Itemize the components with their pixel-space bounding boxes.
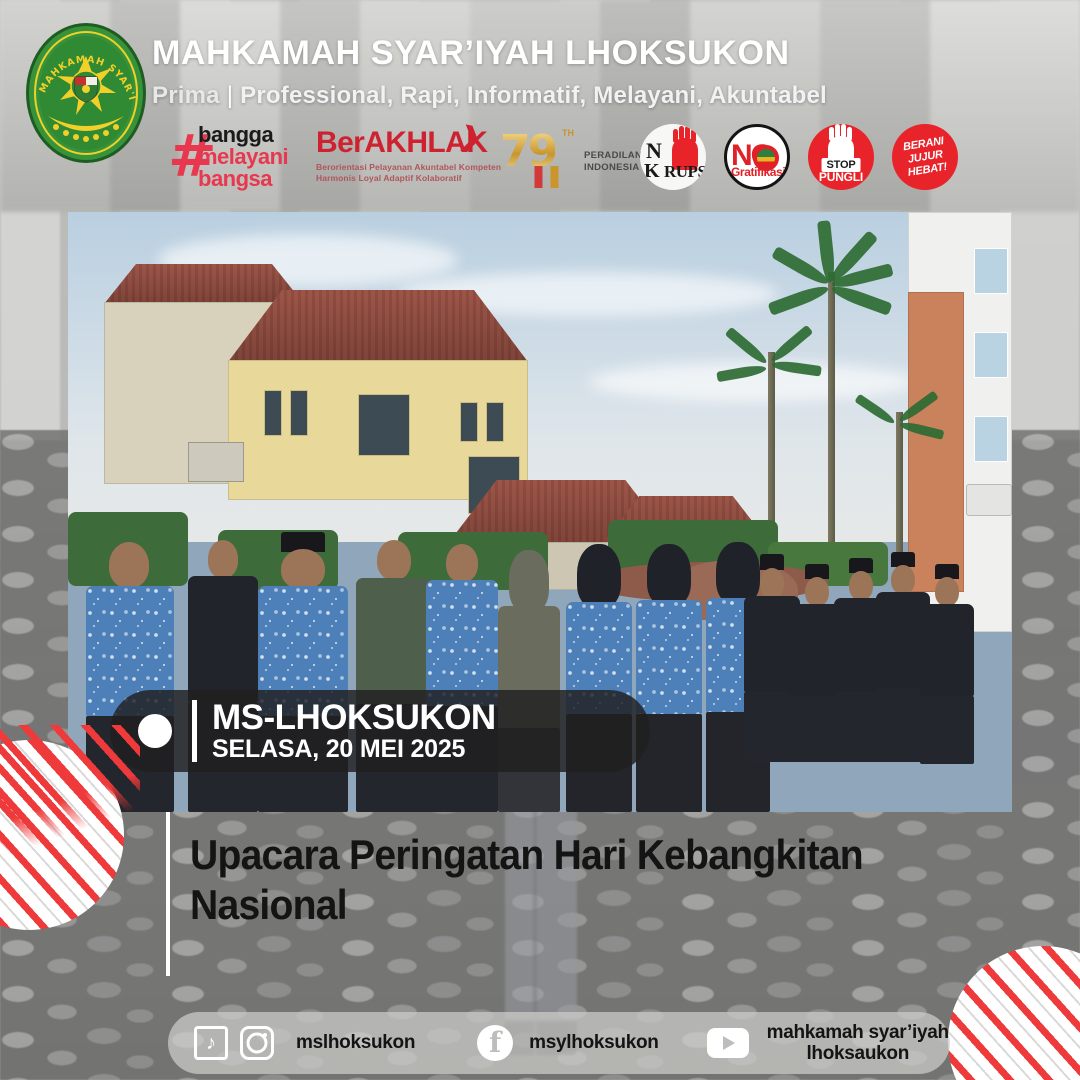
- tagline-values: Professional, Rapi, Informatif, Melayani…: [240, 82, 827, 109]
- pungli-label: PUNGLI: [808, 170, 874, 184]
- photo-ac-unit: [188, 442, 244, 482]
- berakhlak-title: BerAKHLAK: [316, 128, 476, 158]
- social-media-bar: ♪ mslhoksukon f msylhoksukon mahkamah sy…: [168, 1012, 950, 1074]
- bangga-line1: bangga: [198, 124, 273, 146]
- handle-youtube: mahkamah syar’iyah lhoksaukon: [767, 1022, 949, 1064]
- photo-building-right-column: [908, 292, 964, 592]
- institution-seal-icon: MAHKAMAH SYAR'IYAH LHOKSUKON: [22, 20, 150, 166]
- stop-pungli-badge: STOP PUNGLI: [808, 124, 874, 190]
- bangga-melayani-bangsa-logo: # bangga melayani bangsa: [168, 122, 296, 194]
- handle-youtube-line2: lhoksaukon: [767, 1043, 949, 1064]
- berani-text: BERANI JUJUR HEBAT!: [902, 135, 949, 180]
- bullet-dot-icon: [138, 714, 172, 748]
- tiktok-icon[interactable]: ♪: [194, 1026, 228, 1060]
- poster-canvas: MAHKAMAH SYAR'IYAH LHOKSUKON: [0, 0, 1080, 1080]
- handle-facebook: msylhoksukon: [529, 1032, 658, 1054]
- no-korupsi-badge: N K RUPSI: [640, 124, 706, 190]
- youtube-icon[interactable]: [707, 1028, 749, 1058]
- berakhlak-subtitle-1: Berorientasi Pelayanan Akuntabel Kompete…: [316, 162, 476, 173]
- social-account-tiktok-instagram[interactable]: ♪ mslhoksukon: [194, 1026, 415, 1060]
- handle-tiktok-instagram: mslhoksukon: [296, 1032, 415, 1054]
- office-code: MS-LHOKSUKON: [212, 700, 496, 735]
- facebook-icon[interactable]: f: [477, 1025, 513, 1061]
- photo-window: [974, 416, 1008, 462]
- hashtag-icon: #: [168, 128, 202, 186]
- photo-window: [290, 390, 308, 436]
- tagline-separator: |: [220, 82, 240, 109]
- hut-79-swoosh-icon: [510, 166, 568, 188]
- berani-jujur-hebat-badge: BERANI JUJUR HEBAT!: [892, 124, 958, 190]
- photo-person: [636, 544, 702, 812]
- no-gratifikasi-badge: NO Gratifikasi: [724, 124, 790, 190]
- photo-window: [358, 394, 410, 456]
- social-account-facebook[interactable]: f msylhoksukon: [477, 1025, 658, 1061]
- date-text-block: MS-LHOKSUKON SELASA, 20 MEI 2025: [212, 700, 496, 763]
- photo-window: [460, 402, 478, 442]
- organization-title: MAHKAMAH SYAR’IYAH LHOKSUKON: [152, 34, 790, 73]
- date-badge: MS-LHOKSUKON SELASA, 20 MEI 2025: [110, 690, 650, 772]
- photo-window: [264, 390, 282, 436]
- header-bar: MAHKAMAH SYAR'IYAH LHOKSUKON: [0, 0, 1080, 212]
- hut-79-suffix: TH: [562, 128, 574, 138]
- photo-window: [974, 248, 1008, 294]
- berakhlak-logo: BerAKHLAK ❯ Berorientasi Pelayanan Akunt…: [316, 128, 476, 192]
- gratifikasi-label: Gratifikasi: [731, 165, 785, 179]
- tagline-prima: Prima: [152, 82, 220, 109]
- social-account-youtube[interactable]: mahkamah syar’iyah lhoksaukon: [707, 1022, 949, 1064]
- bangga-line2: melayani: [198, 146, 288, 168]
- photo-person: [498, 550, 560, 812]
- decorative-stripes-left-red: [0, 725, 140, 855]
- korupsi-rest: RUPSI: [664, 162, 706, 182]
- photo-roof: [104, 264, 304, 304]
- photo-person: [920, 564, 974, 764]
- photo-ac-unit: [966, 484, 1012, 516]
- page-title: Upacara Peringatan Hari Kebangkitan Nasi…: [190, 830, 897, 930]
- event-date: SELASA, 20 MEI 2025: [212, 735, 496, 763]
- campaign-badge-row: # bangga melayani bangsa BerAKHLAK ❯ Ber…: [168, 124, 1048, 194]
- date-divider: [192, 700, 197, 762]
- tagline: Prima|Professional, Rapi, Informatif, Me…: [152, 82, 827, 110]
- photo-palm-trunk: [828, 272, 835, 572]
- photo-window: [486, 402, 504, 442]
- handle-youtube-line1: mahkamah syar’iyah: [767, 1022, 949, 1043]
- photo-window: [974, 332, 1008, 378]
- instagram-icon[interactable]: [240, 1026, 274, 1060]
- korupsi-k: K: [644, 160, 660, 183]
- bangga-line3: bangsa: [198, 168, 272, 190]
- headline-divider: [166, 812, 170, 976]
- berakhlak-subtitle-2: Harmonis Loyal Adaptif Kolaboratif: [316, 173, 476, 184]
